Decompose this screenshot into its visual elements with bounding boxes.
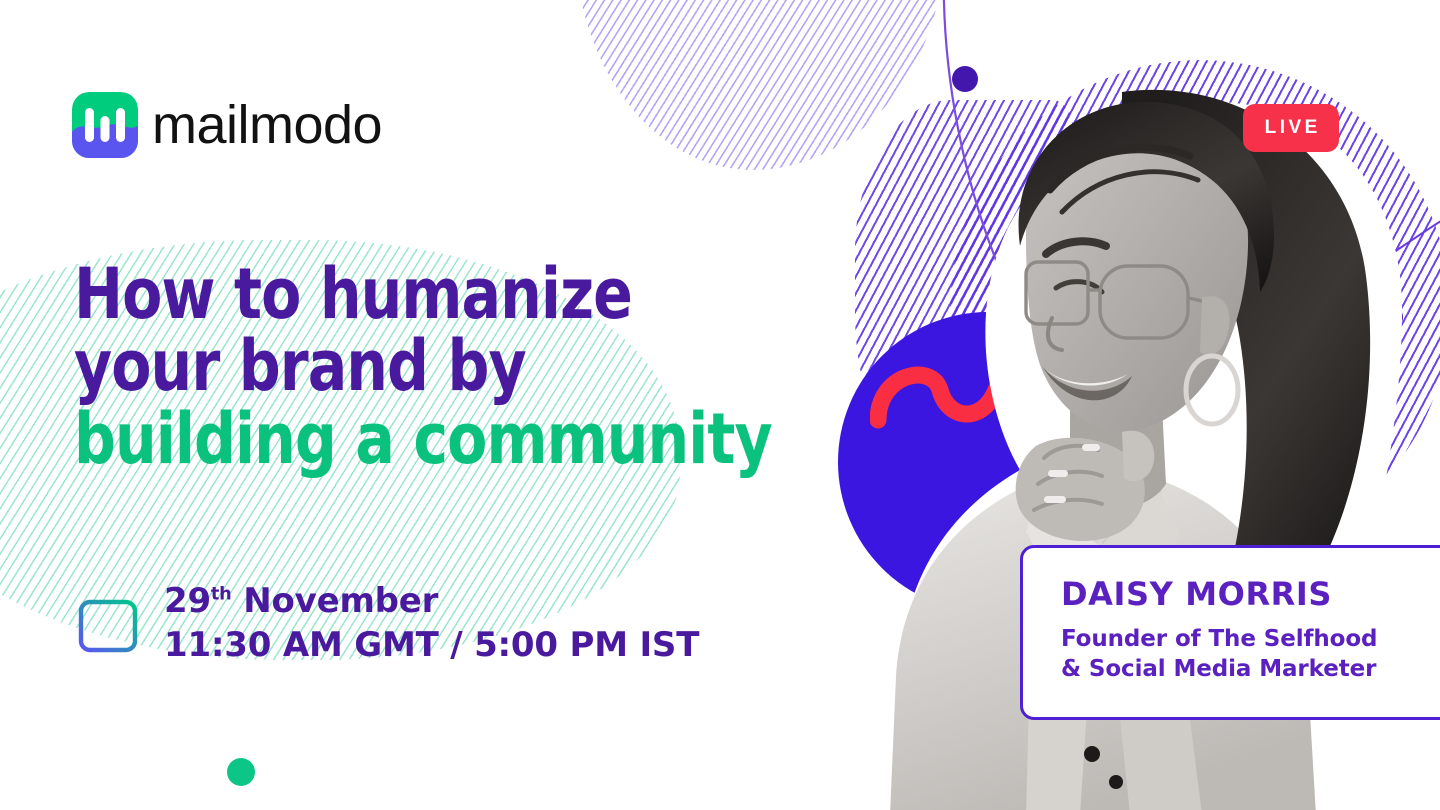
headline-line-3: building a community [74,403,799,475]
event-month: November [243,581,438,621]
event-time: 11:30 AM GMT / 5:00 PM IST [164,624,699,668]
speaker-card: DAISY MORRIS Founder of The Selfhood & S… [1020,545,1440,720]
purple-arc-right [1130,160,1440,560]
event-datetime: 29th November 11:30 AM GMT / 5:00 PM IST [76,580,699,667]
event-datetime-text: 29th November 11:30 AM GMT / 5:00 PM IST [164,580,699,667]
red-squiggle-icon [870,328,1100,478]
event-day: 29 [164,581,211,621]
event-date-line: 29th November [164,580,699,624]
purple-hatched-fan-secondary [855,100,1075,480]
headline-line-1: How to humanize [74,258,799,330]
calendar-icon [76,592,140,656]
purple-dot-right [1377,304,1403,330]
purple-hatched-blob [575,0,945,170]
live-status-badge: LIVE [1243,104,1339,152]
green-arc [0,700,490,810]
speaker-name: DAISY MORRIS [1061,578,1440,610]
speaker-title: Founder of The Selfhood & Social Media M… [1061,624,1440,685]
brand-logo[interactable]: mailmodo [72,92,382,158]
brand-wordmark: mailmodo [152,98,382,152]
webinar-banner: mailmodo How to humanize your brand by b… [0,0,1440,810]
purple-hatched-fan [950,60,1440,560]
green-dot [227,758,255,786]
speaker-title-line-1: Founder of The Selfhood [1061,624,1440,654]
mailmodo-logo-mark-icon [72,92,138,158]
purple-arc-top [870,0,1290,430]
headline-line-2: your brand by [74,330,799,402]
speaker-title-line-2: & Social Media Marketer [1061,654,1440,684]
purple-dot-top [952,66,978,92]
event-day-suffix: th [211,585,232,605]
page-title: How to humanize your brand by building a… [74,258,799,475]
